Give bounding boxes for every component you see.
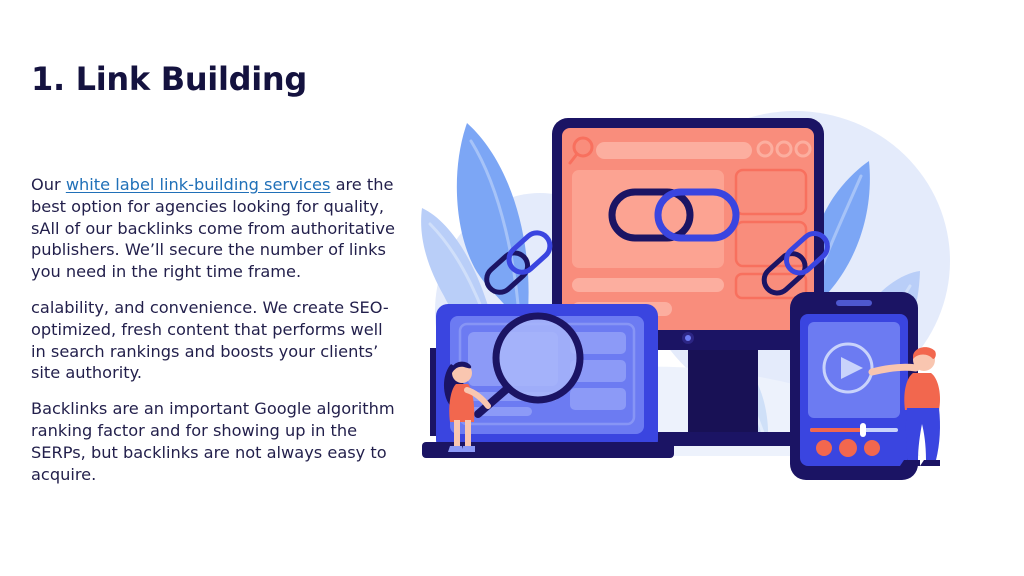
video-control-button-1[interactable] (816, 440, 832, 456)
man-shirt (904, 373, 940, 410)
man-shoe-right (920, 460, 940, 466)
woman-shoe-left (448, 446, 462, 452)
page-title: 1. Link Building (31, 62, 403, 97)
white-label-link-building-services-link[interactable]: white label link-building services (66, 175, 331, 194)
paragraph-1-lead: Our (31, 175, 66, 194)
browser-panel-bottom-2 (572, 278, 724, 292)
browser-panel-main (572, 170, 724, 268)
man-pants (906, 408, 940, 460)
monitor-base (652, 432, 798, 446)
seo-link-building-illustration (420, 96, 990, 496)
laptop-panel-side-3 (570, 388, 626, 410)
phone-speaker-icon (836, 300, 872, 306)
paragraph-1: Our white label link-building services a… (31, 174, 397, 283)
video-control-button-2[interactable] (839, 439, 857, 457)
body-copy: Our white label link-building services a… (31, 174, 397, 485)
browser-search-bar[interactable] (596, 142, 752, 159)
slide-canvas: 1. Link Building Our white label link-bu… (0, 0, 1024, 576)
woman-leg-left (454, 420, 460, 446)
paragraph-2: calability, and convenience. We create S… (31, 297, 397, 384)
paragraph-3: Backlinks are an important Google algori… (31, 398, 397, 485)
monitor-camera-lens-icon (685, 335, 691, 341)
video-control-button-3[interactable] (864, 440, 880, 456)
woman-shoe-right (461, 446, 475, 452)
title-block: 1. Link Building (31, 62, 403, 97)
monitor-neck (688, 348, 758, 440)
smartphone (790, 292, 918, 480)
woman-leg-right (465, 420, 471, 446)
